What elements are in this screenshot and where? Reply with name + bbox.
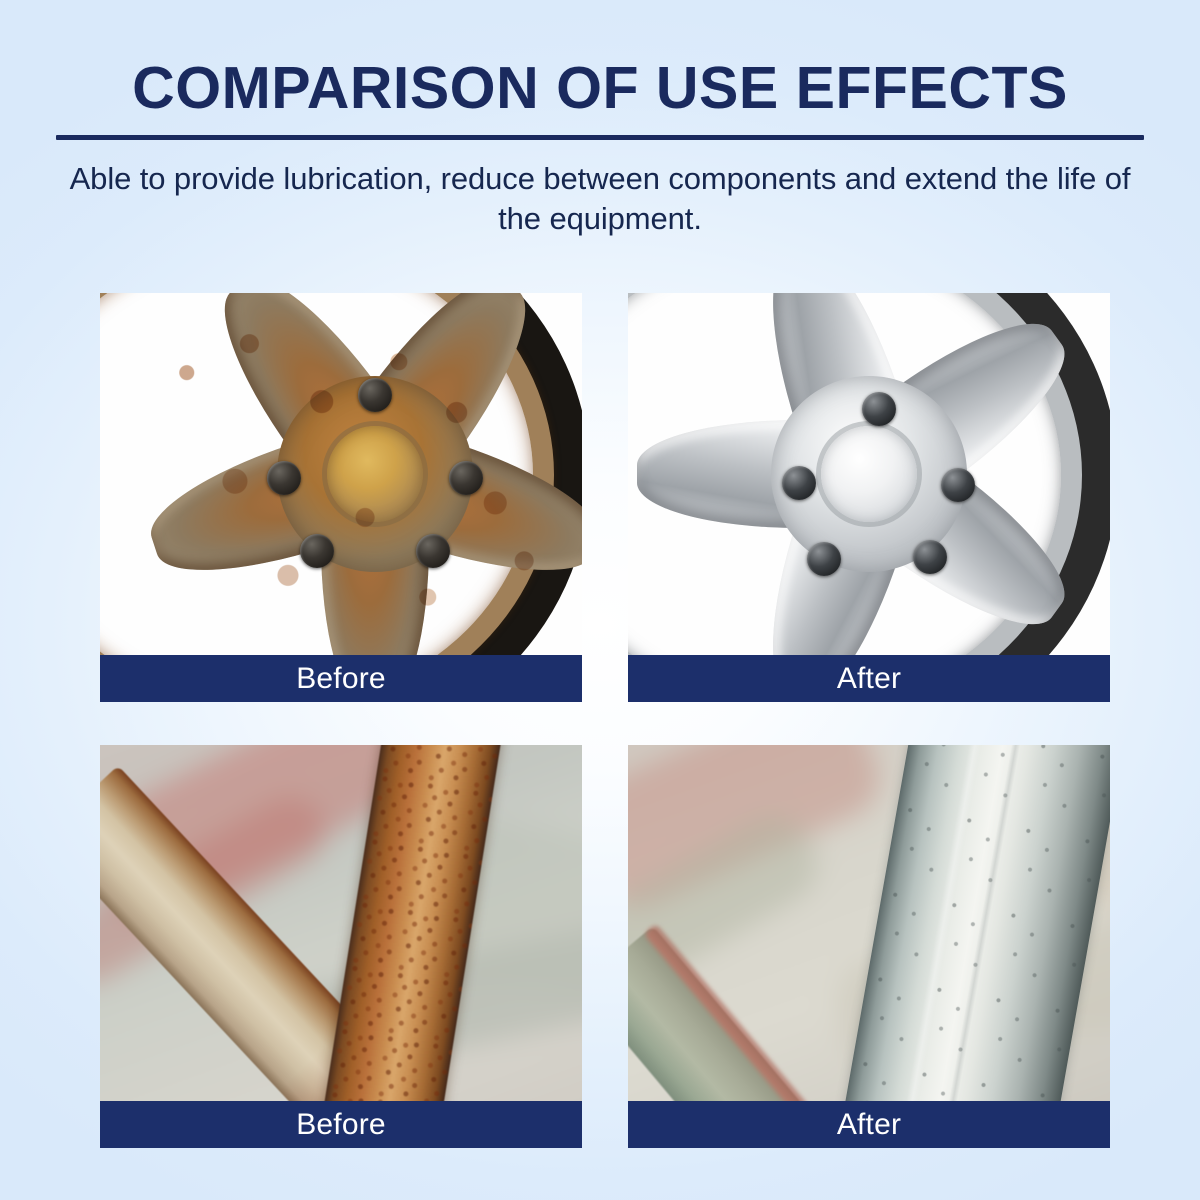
lug-nut xyxy=(862,392,896,426)
lug-nut xyxy=(358,378,392,412)
image-rusty-steel-pipes xyxy=(100,745,582,1101)
comparison-grid: Before xyxy=(100,293,1110,1148)
panel-label-after: After xyxy=(628,1101,1110,1148)
wheel-center-cap xyxy=(327,426,423,522)
panel-pipe-after: After xyxy=(628,745,1110,1148)
lug-nut xyxy=(300,534,334,568)
page-title: COMPARISON OF USE EFFECTS xyxy=(0,58,1200,118)
panel-label-before: Before xyxy=(100,1101,582,1148)
lug-nut xyxy=(267,461,301,495)
wheel-center-cap xyxy=(821,426,917,522)
image-clean-galvanized-pipe xyxy=(628,745,1110,1101)
lug-nut xyxy=(449,461,483,495)
comparison-row-pipes: Before After xyxy=(100,745,1110,1148)
panel-wheel-before: Before xyxy=(100,293,582,702)
panel-pipe-before: Before xyxy=(100,745,582,1148)
page-subtitle: Able to provide lubrication, reduce betw… xyxy=(45,159,1155,240)
lug-nut xyxy=(416,534,450,568)
panel-label-before: Before xyxy=(100,655,582,702)
image-clean-alloy-wheel xyxy=(628,293,1110,655)
image-rusty-alloy-wheel xyxy=(100,293,582,655)
lug-nut xyxy=(807,542,841,576)
lug-nut xyxy=(913,540,947,574)
comparison-row-wheels: Before xyxy=(100,293,1110,702)
lug-nut xyxy=(782,466,816,500)
header: COMPARISON OF USE EFFECTS Able to provid… xyxy=(0,0,1200,240)
title-divider xyxy=(56,135,1144,140)
panel-wheel-after: After xyxy=(628,293,1110,702)
lug-nut xyxy=(941,468,975,502)
panel-label-after: After xyxy=(628,655,1110,702)
